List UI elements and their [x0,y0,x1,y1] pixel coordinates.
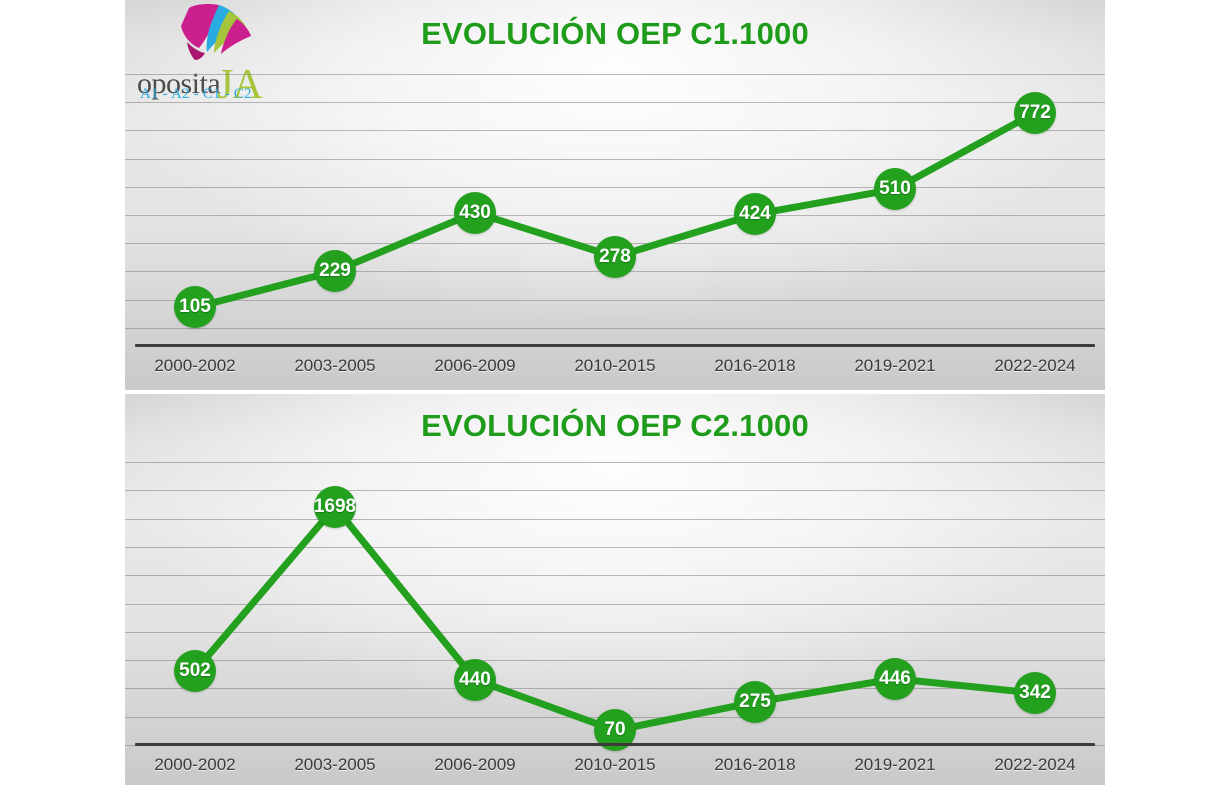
data-point-label: 510 [879,178,911,200]
data-point-marker: 510 [874,168,916,210]
data-point-label: 424 [739,203,771,225]
x-axis-labels-c2: 2000-20022003-20052006-20092010-20152016… [125,755,1105,775]
data-point-label: 275 [739,691,771,713]
chart-title-c1: EVOLUCIÓN OEP C1.1000 [125,16,1105,52]
data-point-marker: 440 [454,659,496,701]
data-point-label: 278 [599,246,631,268]
x-axis-label: 2010-2015 [545,356,685,376]
data-point-label: 229 [319,260,351,282]
data-point-label: 70 [604,719,625,741]
x-axis-label: 2016-2018 [685,356,825,376]
plot-area-c1: 105229430278424510772 [125,68,1105,341]
data-point-marker: 278 [594,236,636,278]
data-point-label: 446 [879,668,911,690]
x-axis-label: 2000-2002 [125,755,265,775]
x-axis-label: 2010-2015 [545,755,685,775]
data-point-label: 342 [1019,682,1051,704]
x-axis-label: 2000-2002 [125,356,265,376]
chart-panel-c1: opositaJA A1 - A2 - C1 - C2 EVOLUCIÓN OE… [125,0,1105,390]
data-point-marker: 1698 [314,486,356,528]
x-axis-labels-c1: 2000-20022003-20052006-20092010-20152016… [125,356,1105,376]
chart-panel-c2: EVOLUCIÓN OEP C2.1000 502169844070275446… [125,394,1105,785]
x-axis-label: 2006-2009 [405,755,545,775]
chart-title-c2: EVOLUCIÓN OEP C2.1000 [125,408,1105,444]
x-axis-label: 2019-2021 [825,356,965,376]
data-point-marker: 772 [1014,92,1056,134]
page-root: opositaJA A1 - A2 - C1 - C2 EVOLUCIÓN OE… [0,0,1205,785]
data-point-marker: 430 [454,192,496,234]
plot-area-c2: 502169844070275446342 [125,458,1105,742]
x-axis-label: 2006-2009 [405,356,545,376]
data-point-label: 430 [459,202,491,224]
data-point-marker: 424 [734,193,776,235]
x-axis-label: 2022-2024 [965,755,1105,775]
data-point-label: 440 [459,669,491,691]
data-point-label: 772 [1019,102,1051,124]
data-point-marker: 275 [734,681,776,723]
x-axis-line-c1 [135,344,1095,347]
data-point-label: 1698 [314,496,356,518]
data-point-marker: 342 [1014,672,1056,714]
data-point-label: 502 [179,660,211,682]
x-axis-label: 2003-2005 [265,356,405,376]
series-line [125,68,1105,341]
x-axis-label: 2019-2021 [825,755,965,775]
x-axis-label: 2022-2024 [965,356,1105,376]
x-axis-label: 2016-2018 [685,755,825,775]
x-axis-line-c2 [135,743,1095,746]
data-point-label: 105 [179,296,211,318]
data-point-marker: 229 [314,250,356,292]
data-point-marker: 446 [874,658,916,700]
data-point-marker: 502 [174,650,216,692]
series-line [125,458,1105,742]
x-axis-label: 2003-2005 [265,755,405,775]
